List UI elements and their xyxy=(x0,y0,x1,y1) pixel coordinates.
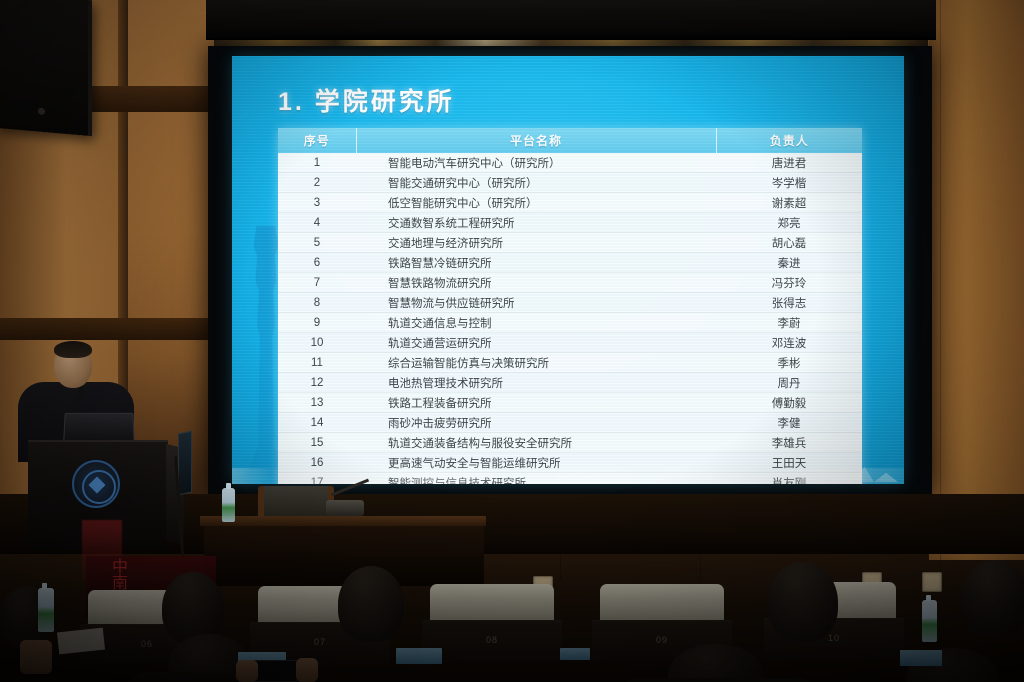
cell-platform-name: 轨道交通营运研究所 xyxy=(356,333,716,353)
cell-no: 6 xyxy=(278,253,356,273)
audience-member-head xyxy=(768,562,838,642)
hand xyxy=(236,660,258,682)
table-row: 2智能交通研究中心（研究所）岑学楷 xyxy=(278,173,862,193)
cell-no: 5 xyxy=(278,233,356,253)
cell-platform-name: 智能电动汽车研究中心（研究所） xyxy=(356,153,716,173)
podium-laptop xyxy=(63,413,134,442)
wall-seam xyxy=(940,0,941,580)
seat-number: 08 xyxy=(422,635,562,645)
cell-platform-name: 交通数智系统工程研究所 xyxy=(356,213,716,233)
table-row: 4交通数智系统工程研究所郑亮 xyxy=(278,213,862,233)
table-row: 1智能电动汽车研究中心（研究所）唐进君 xyxy=(278,153,862,173)
cell-owner: 岑学楷 xyxy=(716,173,862,193)
column-header-no: 序号 xyxy=(278,128,356,153)
table-row: 6铁路智慧冷链研究所秦进 xyxy=(278,253,862,273)
hand xyxy=(296,658,318,682)
cell-no: 7 xyxy=(278,273,356,293)
cell-owner: 邓连波 xyxy=(716,333,862,353)
table-body: 1智能电动汽车研究中心（研究所）唐进君2智能交通研究中心（研究所）岑学楷3低空智… xyxy=(278,153,862,484)
cell-platform-name: 轨道交通信息与控制 xyxy=(356,313,716,333)
cell-owner: 胡心磊 xyxy=(716,233,862,253)
cell-no: 9 xyxy=(278,313,356,333)
cell-no: 4 xyxy=(278,213,356,233)
cell-owner: 冯芬玲 xyxy=(716,273,862,293)
cell-platform-name: 低空智能研究中心（研究所） xyxy=(356,193,716,213)
audience-laptop-screen xyxy=(560,648,590,660)
cell-no: 2 xyxy=(278,173,356,193)
cell-no: 11 xyxy=(278,353,356,373)
cell-owner: 李健 xyxy=(716,413,862,433)
wall-trim-band-lower xyxy=(0,318,210,340)
lecture-hall-scene: 1. 学院研究所 序号 平台名称 负责人 1智能电动汽车研究中心（研究所）唐进君… xyxy=(0,0,1024,682)
smartphone xyxy=(252,660,298,682)
table-row: 15轨道交通装备结构与服役安全研究所李雄兵 xyxy=(278,433,862,453)
column-header-owner: 负责人 xyxy=(716,128,862,153)
table-row: 7智慧铁路物流研究所冯芬玲 xyxy=(278,273,862,293)
cell-owner: 季彬 xyxy=(716,353,862,373)
cell-no: 14 xyxy=(278,413,356,433)
table-row: 9轨道交通信息与控制李蔚 xyxy=(278,313,862,333)
audience-laptop-screen xyxy=(900,650,942,666)
cell-platform-name: 铁路智慧冷链研究所 xyxy=(356,253,716,273)
water-bottle xyxy=(38,588,54,632)
ceiling-valance xyxy=(206,0,936,40)
cell-platform-name: 轨道交通装备结构与服役安全研究所 xyxy=(356,433,716,453)
cell-no: 3 xyxy=(278,193,356,213)
cell-platform-name: 雨砂冲击疲劳研究所 xyxy=(356,413,716,433)
cell-platform-name: 电池热管理技术研究所 xyxy=(356,373,716,393)
institutes-table: 序号 平台名称 负责人 1智能电动汽车研究中心（研究所）唐进君2智能交通研究中心… xyxy=(278,128,862,484)
cell-platform-name: 智能交通研究中心（研究所） xyxy=(356,173,716,193)
right-wall-panel xyxy=(929,0,1024,560)
cell-owner: 张得志 xyxy=(716,293,862,313)
cell-owner: 谢素超 xyxy=(716,193,862,213)
cell-owner: 李雄兵 xyxy=(716,433,862,453)
presenter-hair xyxy=(54,341,92,358)
water-bottle xyxy=(922,600,937,642)
cell-no: 1 xyxy=(278,153,356,173)
cell-no: 13 xyxy=(278,393,356,413)
cell-platform-name: 铁路工程装备研究所 xyxy=(356,393,716,413)
audience-member-head xyxy=(338,566,404,642)
speaker-led xyxy=(38,108,45,116)
desk-equipment xyxy=(326,500,364,516)
wall-outlet xyxy=(922,572,942,592)
cell-no: 15 xyxy=(278,433,356,453)
table-row: 3低空智能研究中心（研究所）谢素超 xyxy=(278,193,862,213)
cell-platform-name: 智慧物流与供应链研究所 xyxy=(356,293,716,313)
hand xyxy=(20,640,52,674)
university-emblem-icon xyxy=(72,460,120,508)
cell-no: 12 xyxy=(278,373,356,393)
wall-speaker xyxy=(0,0,92,136)
cell-owner: 郑亮 xyxy=(716,213,862,233)
stage-table-body xyxy=(204,526,484,586)
stage-chair xyxy=(258,486,334,520)
projection-screen: 1. 学院研究所 序号 平台名称 负责人 1智能电动汽车研究中心（研究所）唐进君… xyxy=(232,56,904,484)
cell-owner: 周丹 xyxy=(716,373,862,393)
cell-platform-name: 交通地理与经济研究所 xyxy=(356,233,716,253)
audience-laptop-screen xyxy=(396,648,442,664)
table-row: 5交通地理与经济研究所胡心磊 xyxy=(278,233,862,253)
table-row: 14雨砂冲击疲劳研究所李健 xyxy=(278,413,862,433)
column-header-name: 平台名称 xyxy=(356,128,716,153)
cell-platform-name: 综合运输智能仿真与决策研究所 xyxy=(356,353,716,373)
audience-seat xyxy=(600,584,724,622)
cell-owner: 傅勤毅 xyxy=(716,393,862,413)
audience-member-head xyxy=(962,560,1024,638)
table-row: 11综合运输智能仿真与决策研究所季彬 xyxy=(278,353,862,373)
stage-table-top xyxy=(200,516,486,526)
water-bottle xyxy=(222,488,235,522)
confidence-monitor xyxy=(178,431,192,496)
cell-owner: 秦进 xyxy=(716,253,862,273)
audience-seat xyxy=(430,584,554,622)
slide-title: 1. 学院研究所 xyxy=(278,82,455,118)
cell-owner: 唐进君 xyxy=(716,153,862,173)
cell-owner: 李蔚 xyxy=(716,313,862,333)
audience-member-head xyxy=(162,572,224,644)
table-row: 13铁路工程装备研究所傅勤毅 xyxy=(278,393,862,413)
table-row: 12电池热管理技术研究所周丹 xyxy=(278,373,862,393)
audience-member-shoulders xyxy=(612,678,826,682)
seat-back-panel: 08 xyxy=(422,620,562,662)
table-row: 8智慧物流与供应链研究所张得志 xyxy=(278,293,862,313)
table-header-row: 序号 平台名称 负责人 xyxy=(278,128,862,153)
cell-no: 8 xyxy=(278,293,356,313)
table-row: 10轨道交通营运研究所邓连波 xyxy=(278,333,862,353)
cell-platform-name: 智慧铁路物流研究所 xyxy=(356,273,716,293)
cell-no: 10 xyxy=(278,333,356,353)
